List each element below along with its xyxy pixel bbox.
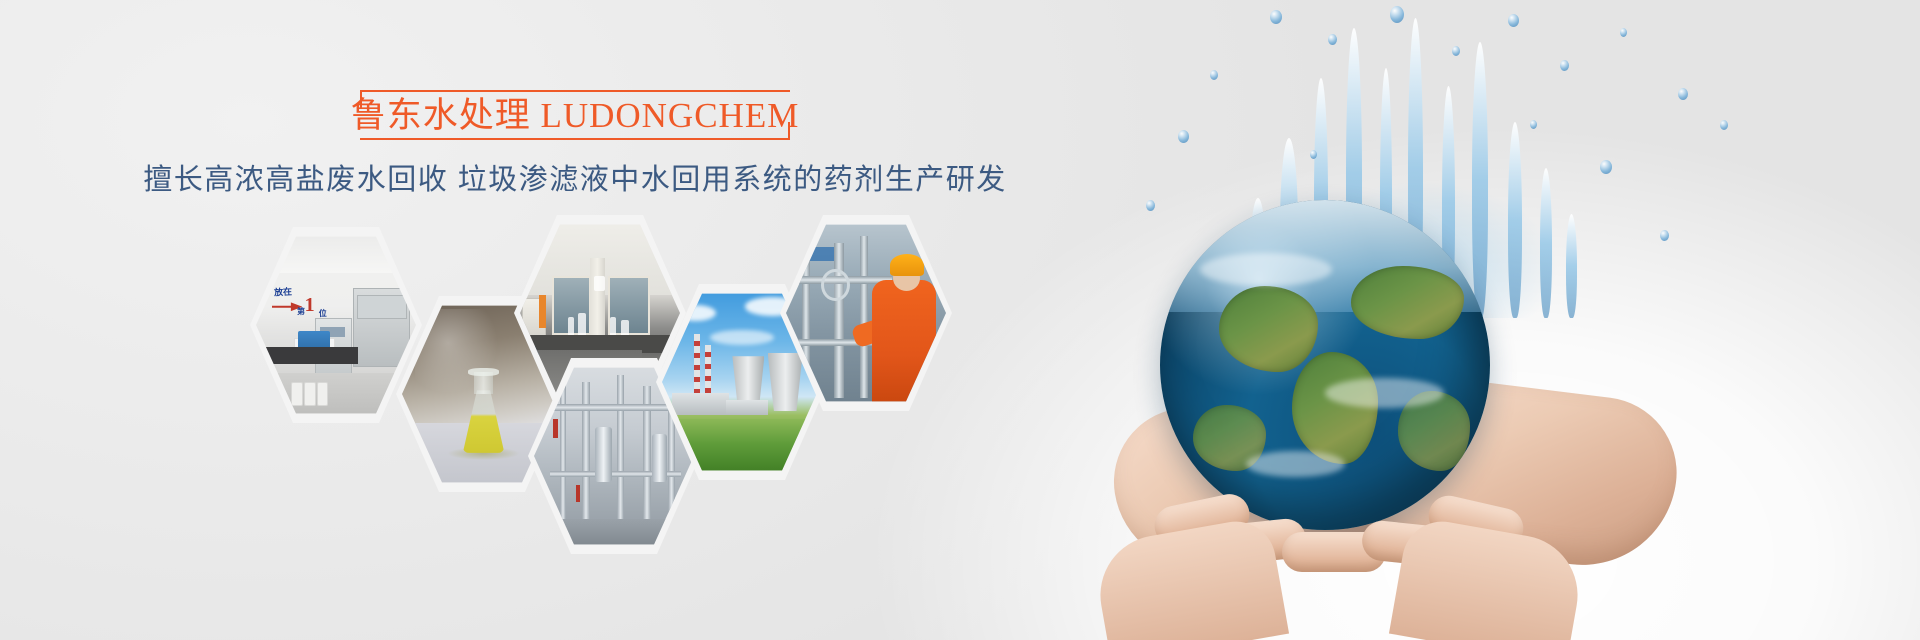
hexagon-gallery: 放在 第 1 位	[0, 0, 1060, 640]
wall-slogan-line1: 放在	[274, 284, 293, 298]
left-wrist	[1091, 515, 1289, 640]
wall-slogan-number: 1	[305, 294, 315, 317]
banner-root: 鲁东水处理 LUDONGCHEM 擅长高浓高盐废水回收 垃圾渗滤液中水回用系统的…	[0, 0, 1920, 640]
globe-in-hands	[1160, 200, 1520, 560]
wall-slogan-suffix: 位	[319, 308, 327, 319]
safety-helmet-icon	[890, 254, 924, 276]
water-splash-globe-artwork	[1060, 0, 1920, 640]
earth-globe	[1160, 200, 1490, 530]
wall-slogan: 放在 第 1 位	[272, 285, 326, 325]
